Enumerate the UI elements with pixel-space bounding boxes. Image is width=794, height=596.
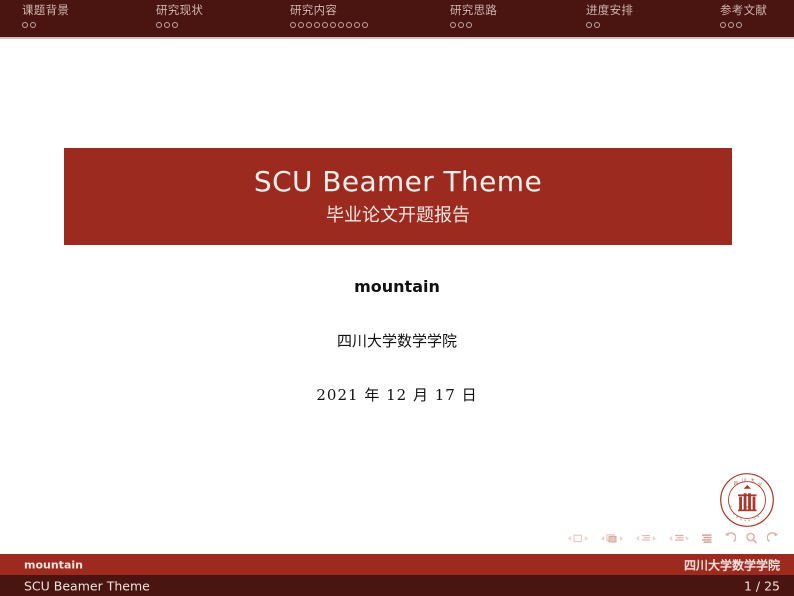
nav-section-dot[interactable] [466,22,472,28]
section-navigation-bar [0,0,794,34]
nav-section-dot[interactable] [728,22,734,28]
title-block: SCU Beamer Theme 毕业论文开题报告 [64,148,732,245]
svg-text:V: V [761,508,765,512]
nav-section-dot[interactable] [346,22,352,28]
nav-section-dot[interactable] [22,22,28,28]
nav-section-dot[interactable] [290,22,296,28]
footer-top-bar: mountain 四川大学数学学院 [0,554,794,575]
nav-section-dots[interactable] [290,19,370,29]
nav-section-dots[interactable] [586,19,633,29]
nav-section-label: 课题背景 [22,4,69,17]
nav-section-2[interactable]: 研究内容 [290,4,370,29]
svg-text:川: 川 [742,479,746,484]
nav-section-dot[interactable] [338,22,344,28]
nav-section-dot[interactable] [164,22,170,28]
nav-section-dot[interactable] [450,22,456,28]
beamer-slide: 课题背景 研究现状 研究内容 研究思路 进度安排 参考文献 SCU Beamer… [0,0,794,596]
nav-section-1[interactable]: 研究现状 [156,4,203,29]
institute-name: 四川大学数学学院 [0,330,794,352]
nav-section-dots[interactable] [450,19,497,29]
nav-section-dot[interactable] [156,22,162,28]
nav-section-label: 研究现状 [156,4,203,17]
footer-author: mountain [24,558,83,571]
svg-text:N: N [748,518,750,522]
svg-text:四: 四 [734,481,739,487]
nav-section-dot[interactable] [322,22,328,28]
svg-text:N: N [756,514,760,518]
nav-section-4[interactable]: 进度安排 [586,4,633,29]
nav-section-0[interactable]: 课题背景 [22,4,69,29]
scu-seal-logo: 四 川 大 学 S I C H U A N U N I V 1896 [719,472,775,528]
svg-text:学: 学 [758,482,763,489]
nav-section-dot[interactable] [314,22,320,28]
nav-section-label: 进度安排 [586,4,633,17]
nav-section-dot[interactable] [736,22,742,28]
nav-bar-highlight-line [0,37,794,39]
search-navigation-icon[interactable] [745,532,758,544]
section-navigation-icon[interactable] [667,533,691,544]
nav-section-dot[interactable] [594,22,600,28]
nav-section-5[interactable]: 参考文献 [720,4,767,29]
title-meta-group: mountain 四川大学数学学院 2021 年 12 月 17 日 [0,276,794,406]
forward-navigation-icon[interactable] [767,532,780,544]
footer-page-number: 1 / 25 [744,578,780,593]
nav-section-3[interactable]: 研究思路 [450,4,497,29]
beamer-navigation-symbols [505,529,780,547]
nav-section-dot[interactable] [298,22,304,28]
nav-section-dots[interactable] [720,19,767,29]
nav-section-dot[interactable] [172,22,178,28]
svg-text:I: I [759,512,763,515]
svg-text:C: C [732,512,736,516]
nav-section-dot[interactable] [306,22,312,28]
author-name: mountain [0,276,794,298]
nav-section-dot[interactable] [354,22,360,28]
nav-section-label: 研究思路 [450,4,497,17]
nav-section-dot[interactable] [30,22,36,28]
presentation-title: SCU Beamer Theme [254,165,542,199]
footer-bottom-bar: SCU Beamer Theme 1 / 25 [0,575,794,596]
nav-section-dots[interactable] [156,19,203,29]
presentation-subtitle: 毕业论文开题报告 [326,203,470,229]
footer-presentation-title: SCU Beamer Theme [24,578,150,593]
back-navigation-icon[interactable] [723,532,736,544]
subsection-navigation-icon[interactable] [634,533,658,544]
svg-text:1896: 1896 [743,505,750,509]
svg-text:大: 大 [750,477,755,484]
document-navigation-icon[interactable] [700,533,714,544]
nav-section-dots[interactable] [22,19,69,29]
slide-navigation-icon[interactable] [566,533,590,544]
nav-section-label: 研究内容 [290,4,370,17]
frame-navigation-icon[interactable] [599,533,625,544]
footer-institute: 四川大学数学学院 [684,556,780,573]
nav-section-label: 参考文献 [720,4,767,17]
nav-section-dot[interactable] [586,22,592,28]
nav-section-dot[interactable] [458,22,464,28]
nav-section-dot[interactable] [720,22,726,28]
svg-text:H: H [735,515,739,519]
presentation-date: 2021 年 12 月 17 日 [0,384,794,406]
nav-section-dot[interactable] [330,22,336,28]
nav-section-dot[interactable] [362,22,368,28]
